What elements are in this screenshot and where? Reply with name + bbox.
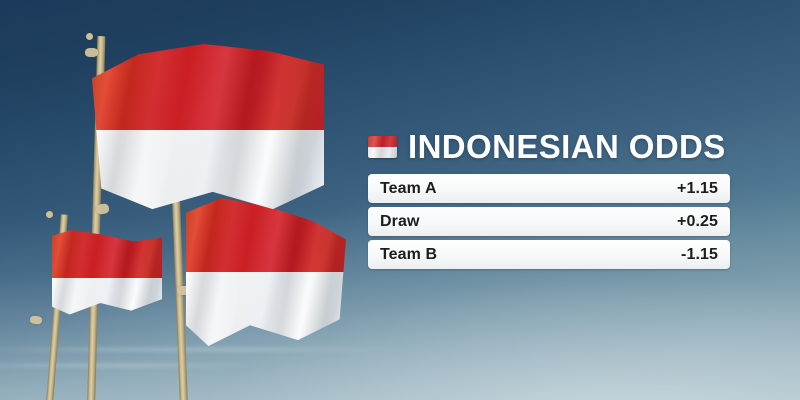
odds-row-value: -1.15: [681, 246, 718, 264]
odds-panel: INDONESIAN ODDS Team A +1.15 Draw +0.25 …: [368, 130, 730, 269]
odds-row-value: +1.15: [677, 180, 718, 198]
odds-table: Team A +1.15 Draw +0.25 Team B -1.15: [368, 174, 730, 269]
table-row[interactable]: Team B -1.15: [368, 240, 730, 269]
panel-header: INDONESIAN ODDS: [368, 130, 730, 163]
flag-icon-wave-shading: [368, 136, 397, 158]
flag-fold-shading: [92, 44, 324, 216]
flag-pole-center-cap: [86, 33, 93, 40]
page-title: INDONESIAN ODDS: [408, 130, 726, 163]
odds-row-label: Team A: [380, 180, 437, 198]
flag-pole-left-cap: [46, 211, 53, 218]
odds-row-value: +0.25: [677, 213, 718, 231]
table-row[interactable]: Draw +0.25: [368, 207, 730, 236]
flag-tie-center-top: [85, 48, 98, 57]
cloud-streak: [0, 364, 256, 367]
screenshot-canvas: INDONESIAN ODDS Team A +1.15 Draw +0.25 …: [0, 0, 800, 400]
table-row[interactable]: Team A +1.15: [368, 174, 730, 203]
indonesia-flag-icon: [368, 136, 397, 158]
odds-row-label: Team B: [380, 246, 437, 264]
flag-tie-left: [30, 315, 43, 324]
cloud-streak: [0, 348, 408, 351]
indonesian-flag-main: [92, 44, 324, 216]
odds-row-label: Draw: [380, 213, 420, 231]
